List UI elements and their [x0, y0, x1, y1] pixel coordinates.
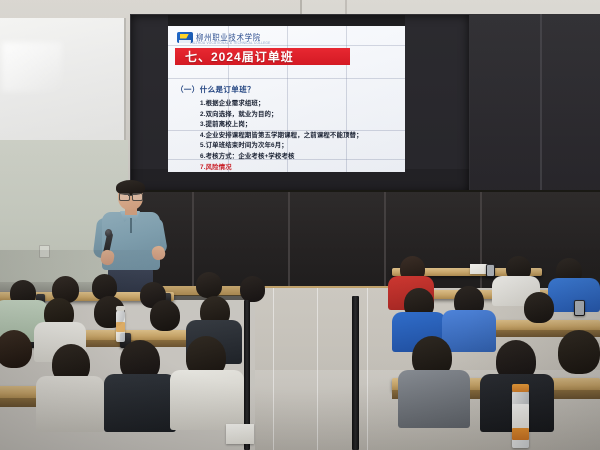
board-seam: [192, 192, 194, 290]
audience-head: [196, 272, 222, 298]
audience-head: [240, 276, 265, 302]
seat-post: [352, 296, 359, 450]
audience-head: [558, 330, 600, 374]
whiteboard: [0, 18, 126, 143]
audience-body: [36, 376, 104, 432]
wall-panel-seam: [540, 14, 542, 192]
glasses-bridge: [128, 195, 132, 196]
whiteboard-glare: [2, 42, 62, 92]
power-outlet: [39, 245, 50, 258]
audience-body: [170, 370, 244, 430]
notebook: [226, 424, 254, 444]
bottle-label-band: [512, 428, 529, 440]
led-video-wall[interactable]: 柳州职业技术学院 LIUZHOU VOCATIONAL & TECHNICAL …: [130, 14, 470, 194]
audience-head: [150, 300, 180, 331]
lecture-hall-photo: 柳州职业技术学院 LIUZHOU VOCATIONAL & TECHNICAL …: [0, 0, 600, 450]
bottle-label: [512, 404, 529, 430]
phone-screen: [487, 265, 494, 276]
board-seam: [288, 192, 290, 290]
lecturer-placket: [130, 218, 132, 233]
glasses-icon: [132, 193, 143, 201]
audience-head: [524, 292, 554, 323]
board-seam: [384, 192, 386, 290]
audience-body: [442, 310, 496, 352]
wall-panel-dark-right: [470, 14, 600, 192]
audience-body: [398, 370, 470, 428]
audience-body: [104, 374, 176, 432]
phone-screen: [575, 301, 584, 315]
phone[interactable]: [486, 264, 495, 277]
bottle-label: [116, 322, 125, 332]
audience-head: [0, 330, 32, 368]
bottle-cap: [512, 384, 529, 392]
bottle-cap: [116, 306, 125, 311]
led-wall-bezel: [130, 14, 470, 194]
phone[interactable]: [574, 300, 585, 316]
